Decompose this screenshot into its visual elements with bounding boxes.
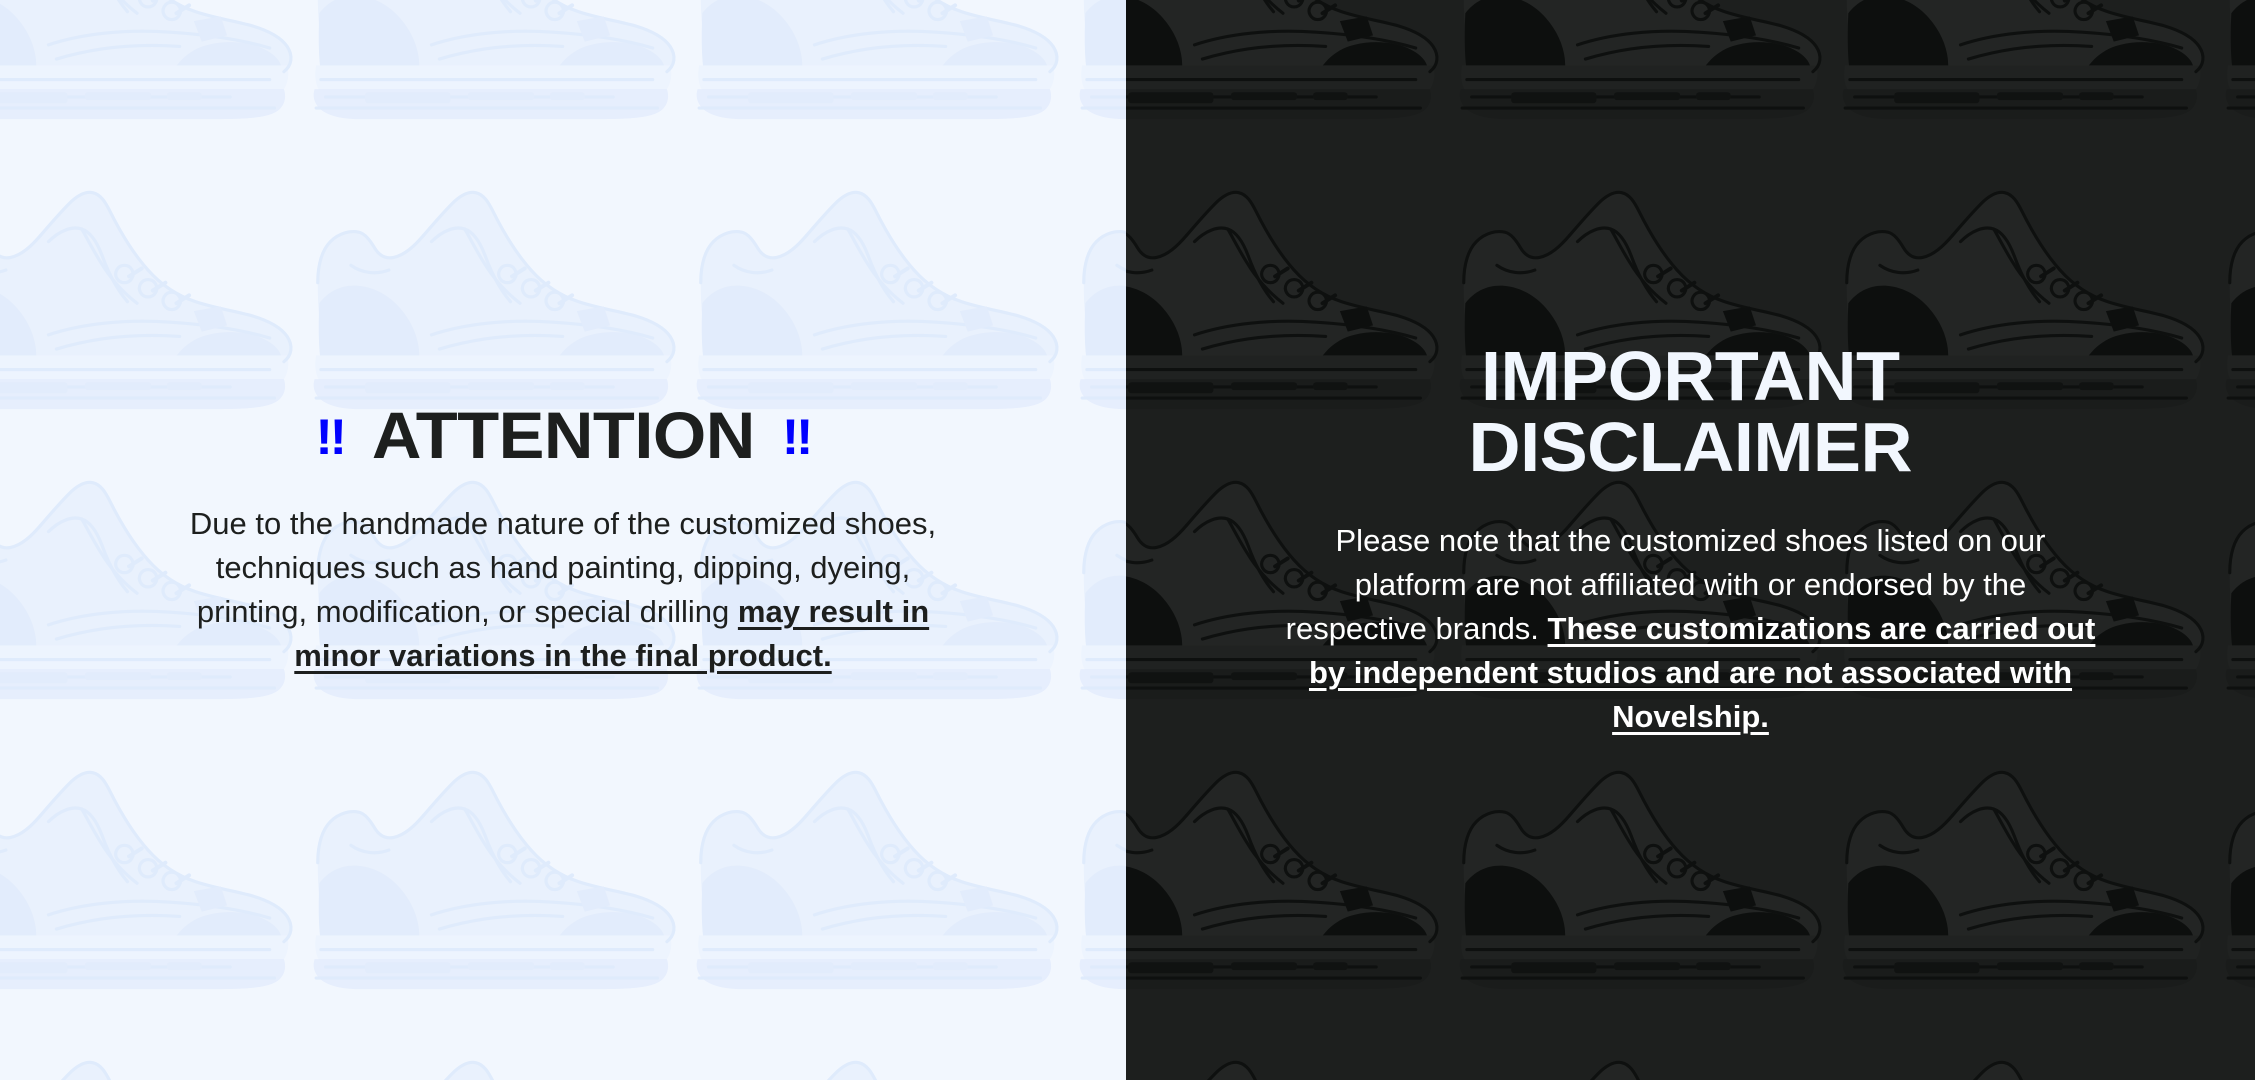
- attention-panel: ‼ ATTENTION ‼ Due to the handmade nature…: [0, 0, 1126, 1080]
- disclaimer-heading-line1: IMPORTANT: [1481, 337, 1900, 415]
- attention-content: ‼ ATTENTION ‼ Due to the handmade nature…: [0, 0, 1126, 1080]
- disclaimer-heading-line2: DISCLAIMER: [1469, 408, 1912, 486]
- double-exclamation-icon-right: ‼: [782, 412, 811, 462]
- disclaimer-panel: IMPORTANT DISCLAIMER Please note that th…: [1126, 0, 2255, 1080]
- disclaimer-body: Please note that the customized shoes li…: [1281, 519, 2101, 739]
- customization-notice-banner: ‼ ATTENTION ‼ Due to the handmade nature…: [0, 0, 2255, 1080]
- attention-body: Due to the handmade nature of the custom…: [163, 502, 963, 678]
- attention-heading-text: ATTENTION: [372, 402, 755, 468]
- attention-heading: ‼ ATTENTION ‼: [315, 402, 811, 468]
- disclaimer-heading: IMPORTANT DISCLAIMER: [1469, 341, 1912, 484]
- disclaimer-content: IMPORTANT DISCLAIMER Please note that th…: [1126, 0, 2255, 1080]
- double-exclamation-icon-left: ‼: [315, 412, 344, 462]
